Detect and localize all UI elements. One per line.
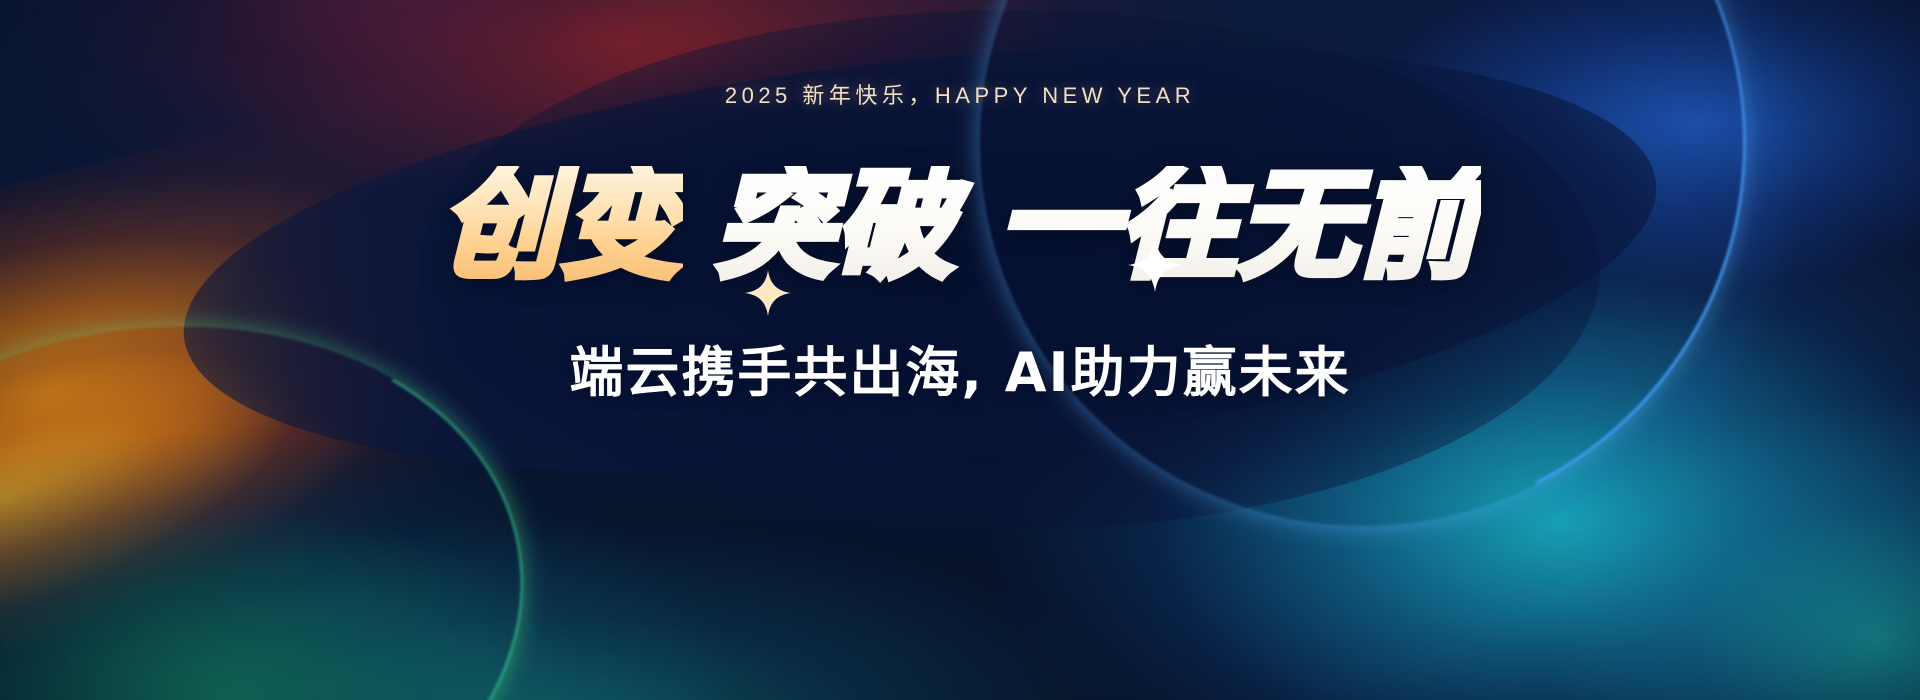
banner-eyebrow: 2025 新年快乐，HAPPY NEW YEAR	[725, 78, 1195, 110]
banner-subtitle: 端云携手共出海, AI助力赢未来	[569, 328, 1350, 407]
headline-gold-part: 创变	[439, 166, 683, 284]
banner-headline: 创变 突破 一往无前	[439, 166, 1480, 284]
new-year-banner: 2025 新年快乐，HAPPY NEW YEAR 创变 突破 一往无前 端云携手…	[0, 0, 1920, 700]
banner-content: 2025 新年快乐，HAPPY NEW YEAR 创变 突破 一往无前 端云携手…	[0, 0, 1920, 700]
headline-white-part: 突破 一往无前	[713, 166, 1480, 284]
